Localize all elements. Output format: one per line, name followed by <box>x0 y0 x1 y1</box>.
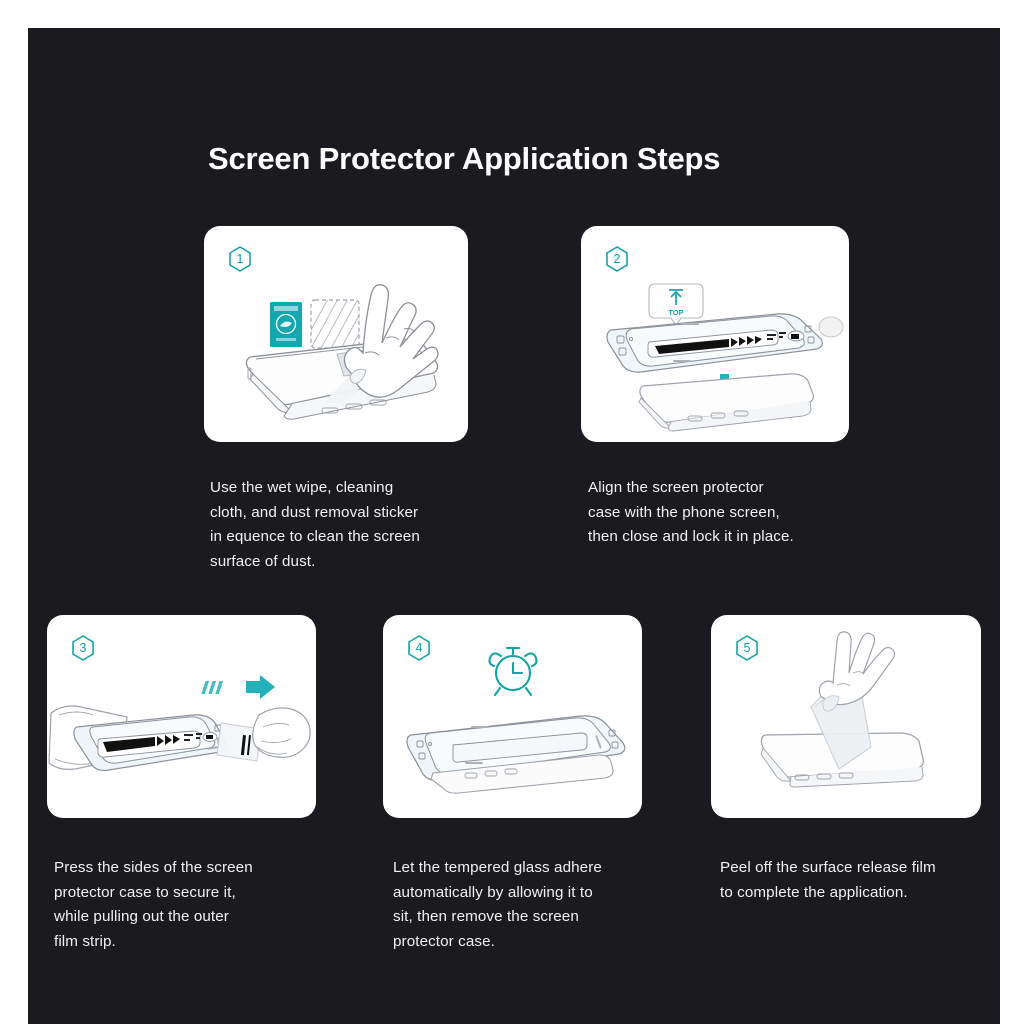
align-case-illustration: 2 TOP <box>581 226 849 442</box>
wait-adhere-illustration: 4 <box>383 615 642 818</box>
step-caption-1: Use the wet wipe, cleaning cloth, and du… <box>210 476 490 575</box>
wet-wipe-packet <box>270 302 302 347</box>
step-card-3: 3 <box>47 615 316 818</box>
case-tab-circle <box>819 317 843 337</box>
caption-line: Use the wet wipe, cleaning <box>210 476 490 501</box>
top-callout-bubble: TOP <box>649 284 703 325</box>
caption-line: surface of dust. <box>210 550 490 575</box>
step-caption-5: Peel off the surface release film to com… <box>720 856 1000 905</box>
caption-line: automatically by allowing it to <box>393 881 688 906</box>
caption-line: Let the tempered glass adhere <box>393 856 688 881</box>
dark-panel: Screen Protector Application Steps 1 <box>28 28 1000 1024</box>
step-badge-label-2: 2 <box>614 252 621 266</box>
step-card-5: 5 <box>711 615 981 818</box>
step-badge-label-3: 3 <box>80 641 87 655</box>
step-badge-label-4: 4 <box>416 641 423 655</box>
illustration-page: Screen Protector Application Steps 1 <box>0 0 1024 1024</box>
phone-device <box>639 374 813 431</box>
caption-line: Align the screen protector <box>588 476 878 501</box>
alarm-clock-icon <box>490 648 537 695</box>
caption-line: Peel off the surface release film <box>720 856 1000 881</box>
caption-line: cloth, and dust removal sticker <box>210 501 490 526</box>
caption-line: Press the sides of the screen <box>54 856 344 881</box>
step-card-2: 2 TOP <box>581 226 849 442</box>
caption-line: protector case to secure it, <box>54 881 344 906</box>
wipe-clean-phone-illustration: 1 <box>204 226 468 442</box>
hand-illustration <box>819 632 894 705</box>
step-card-4: 4 <box>383 615 642 818</box>
step-caption-4: Let the tempered glass adhere automatica… <box>393 856 688 955</box>
caption-line: while pulling out the outer <box>54 905 344 930</box>
caption-line: sit, then remove the screen <box>393 905 688 930</box>
caption-line: in equence to clean the screen <box>210 525 490 550</box>
page-title: Screen Protector Application Steps <box>208 140 908 177</box>
pull-direction-arrow <box>201 675 275 699</box>
caption-line: case with the phone screen, <box>588 501 878 526</box>
step-badge-label-1: 1 <box>237 252 244 266</box>
pull-film-strip-illustration: 3 <box>47 615 316 818</box>
caption-line: protector case. <box>393 930 688 955</box>
protector-case <box>607 314 843 372</box>
step-badge-label-5: 5 <box>744 641 751 655</box>
step-card-1: 1 <box>204 226 468 442</box>
caption-line: to complete the application. <box>720 881 1000 906</box>
right-hand <box>253 708 310 757</box>
step-caption-2: Align the screen protector case with the… <box>588 476 878 550</box>
peel-release-film-illustration: 5 <box>711 615 981 818</box>
caption-line: film strip. <box>54 930 344 955</box>
top-callout-label: TOP <box>668 308 683 317</box>
step-caption-3: Press the sides of the screen protector … <box>54 856 344 955</box>
caption-line: then close and lock it in place. <box>588 525 878 550</box>
